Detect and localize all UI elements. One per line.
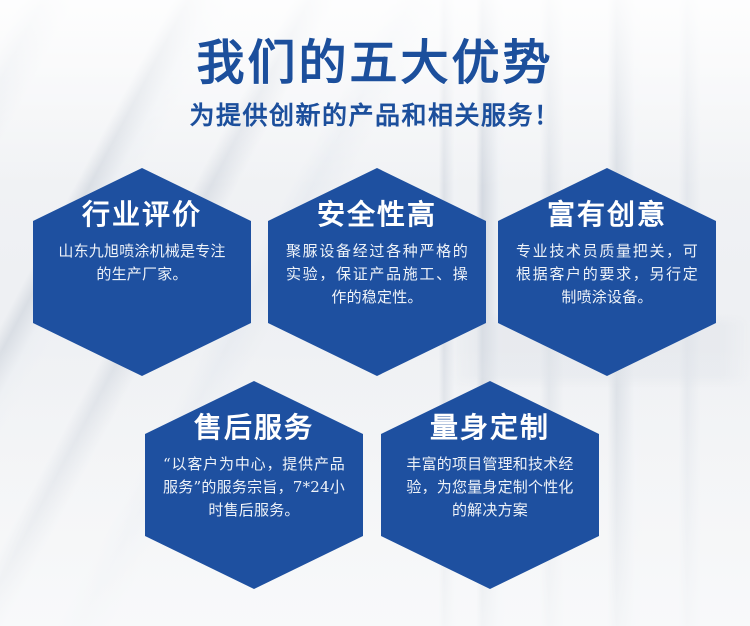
advantage-body: 山东九旭喷涂机械是专注的生产厂家。 [51,240,233,286]
advantage-hexagon-tailor-made[interactable]: 量身定制 丰富的项目管理和技术经验，为您量身定制个性化的解决方案 [381,381,599,589]
advantage-hexagon-creative[interactable]: 富有创意 专业技术员质量把关，可根据客户的要求，另行定制喷涂设备。 [498,168,716,376]
advantage-body: 丰富的项目管理和技术经验，为您量身定制个性化的解决方案 [399,453,581,521]
page-title: 我们的五大优势 [0,38,750,90]
page-subtitle: 为提供创新的产品和相关服务！ [0,102,750,130]
advantage-title: 售后服务 [194,413,314,442]
advantage-body: “以客户为中心，提供产品服务”的服务宗旨，7*24小时售后服务。 [163,453,345,521]
advantage-title: 量身定制 [430,413,550,442]
advantage-hexagon-high-safety[interactable]: 安全性高 聚脲设备经过各种严格的实验，保证产品施工、操作的稳定性。 [268,168,486,376]
advantages-banner: 我们的五大优势 为提供创新的产品和相关服务！ 行业评价 山东九旭喷涂机械是专注的… [0,0,750,626]
header-block: 我们的五大优势 为提供创新的产品和相关服务！ [0,38,750,129]
advantage-body: 聚脲设备经过各种严格的实验，保证产品施工、操作的稳定性。 [286,240,468,308]
advantage-title: 富有创意 [547,200,667,229]
advantage-hexagon-industry-reputation[interactable]: 行业评价 山东九旭喷涂机械是专注的生产厂家。 [33,168,251,376]
advantage-title: 安全性高 [317,200,437,229]
advantage-hexagon-after-sales-service[interactable]: 售后服务 “以客户为中心，提供产品服务”的服务宗旨，7*24小时售后服务。 [145,381,363,589]
advantage-title: 行业评价 [82,200,202,229]
advantage-body: 专业技术员质量把关，可根据客户的要求，另行定制喷涂设备。 [516,240,698,308]
